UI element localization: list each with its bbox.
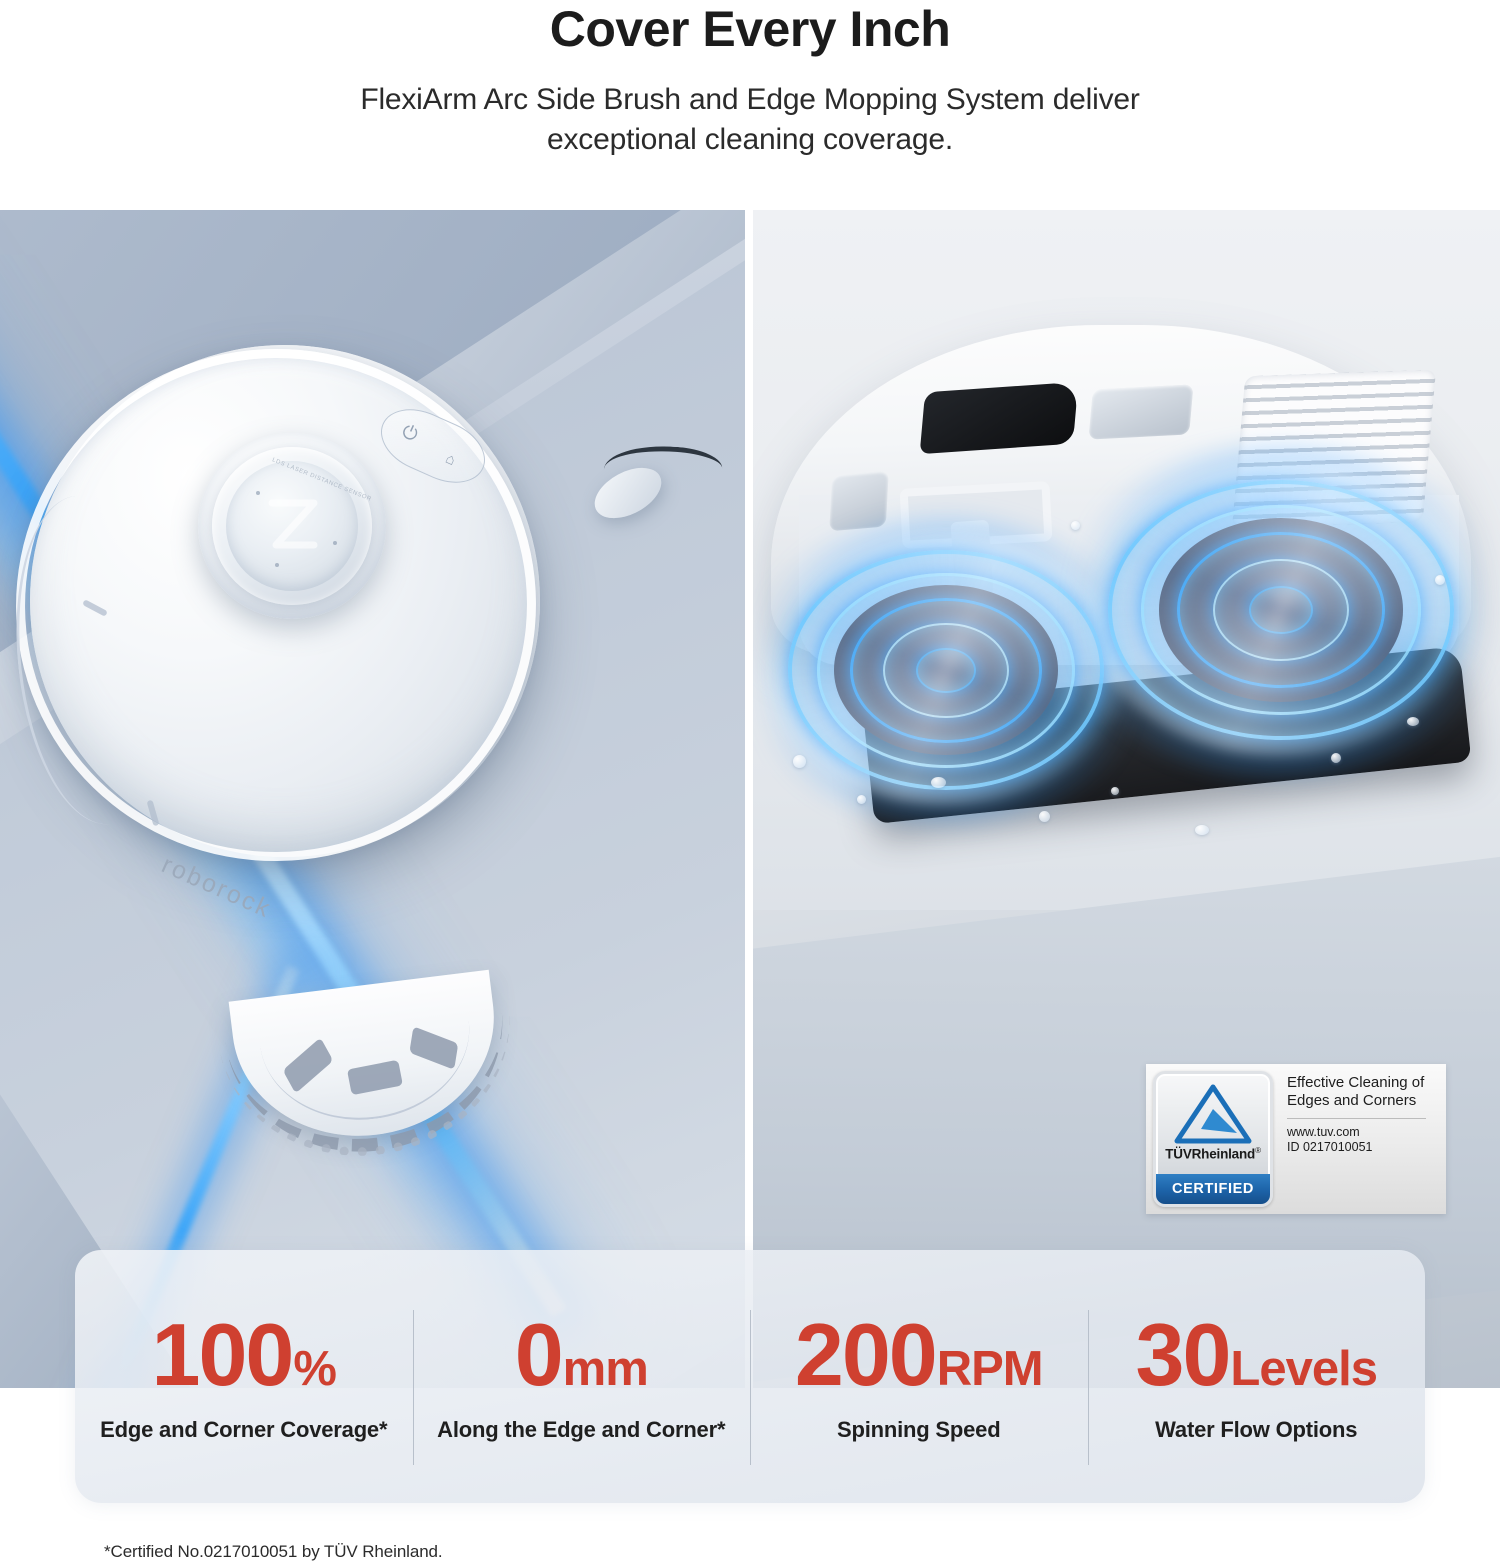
- stat-value: 200 RPM: [795, 1315, 1043, 1396]
- water-droplet: [1435, 575, 1445, 585]
- left-product-photo: LDS LASER DISTANCE SENSOR ⏻ ⌂ roborock: [0, 210, 745, 1388]
- subtitle-line-1: FlexiArm Arc Side Brush and Edge Mopping…: [0, 80, 1500, 120]
- mop-spin-flare: [1087, 464, 1476, 756]
- roborock-r-logo-icon: [262, 495, 324, 553]
- tuv-divider: [1287, 1118, 1426, 1119]
- water-droplet: [1039, 811, 1050, 822]
- tuv-certified-label: CERTIFIED: [1156, 1174, 1270, 1204]
- tuv-website: www.tuv.com: [1287, 1125, 1438, 1140]
- stat-unit: Levels: [1230, 1347, 1377, 1392]
- turret-sensor-dot: [275, 563, 279, 567]
- stat-unit: RPM: [937, 1347, 1043, 1392]
- spec-stats-panel: 100 % Edge and Corner Coverage* 0 mm Alo…: [75, 1250, 1425, 1503]
- tuv-seal: TÜVRheinland® CERTIFIED: [1153, 1071, 1273, 1207]
- stat-number: 30: [1136, 1315, 1230, 1396]
- stat-item-coverage: 100 % Edge and Corner Coverage*: [75, 1250, 413, 1503]
- certification-footnote: *Certified No.0217010051 by TÜV Rheinlan…: [104, 1542, 443, 1562]
- edge-mop-pad-assembly: [221, 969, 520, 1172]
- water-droplet: [857, 795, 866, 804]
- water-droplet: [1331, 753, 1341, 763]
- water-droplet: [931, 777, 946, 788]
- stat-number: 0: [515, 1315, 562, 1396]
- water-droplet: [793, 755, 806, 768]
- tuv-info-block: Effective Cleaning of Edges and Corners …: [1273, 1064, 1446, 1214]
- header-section: Cover Every Inch FlexiArm Arc Side Brush…: [0, 0, 1500, 210]
- page-subtitle: FlexiArm Arc Side Brush and Edge Mopping…: [0, 54, 1500, 160]
- subtitle-line-2: exceptional cleaning coverage.: [0, 120, 1500, 160]
- stat-number: 200: [795, 1315, 936, 1396]
- stat-unit: %: [293, 1347, 336, 1392]
- stat-item-spin-speed: 200 RPM Spinning Speed: [750, 1250, 1088, 1503]
- tuv-id: ID 0217010051: [1287, 1140, 1438, 1155]
- turret-sensor-dot: [256, 491, 260, 495]
- sensor-window: [1089, 384, 1194, 439]
- stat-unit: mm: [563, 1347, 648, 1392]
- water-droplet: [1111, 787, 1119, 795]
- mop-fringe-outer: [214, 968, 525, 1172]
- tuv-organization-name: TÜVRheinland®: [1165, 1146, 1261, 1162]
- stat-value: 0 mm: [515, 1315, 648, 1396]
- water-droplet: [1071, 521, 1080, 530]
- stat-item-gap: 0 mm Along the Edge and Corner*: [413, 1250, 751, 1503]
- turret-sensor-dot: [333, 541, 337, 545]
- stat-label: Along the Edge and Corner*: [437, 1416, 725, 1444]
- stat-number: 100: [152, 1315, 293, 1396]
- stat-label: Water Flow Options: [1155, 1416, 1357, 1444]
- product-image-panels: LDS LASER DISTANCE SENSOR ⏻ ⌂ roborock: [0, 210, 1500, 1388]
- tuv-triangle-icon: [1171, 1083, 1255, 1145]
- stat-label: Edge and Corner Coverage*: [100, 1416, 387, 1444]
- spinning-mop-pad-right: [1101, 475, 1461, 745]
- robot-vacuum-top: LDS LASER DISTANCE SENSOR ⏻ ⌂ roborock: [30, 345, 540, 865]
- stat-label: Spinning Speed: [837, 1416, 1000, 1444]
- water-droplet: [1407, 717, 1419, 726]
- stat-value: 100 %: [152, 1315, 336, 1396]
- tuv-certification-badge: TÜVRheinland® CERTIFIED Effective Cleani…: [1146, 1064, 1446, 1214]
- tuv-claim-text: Effective Cleaning of Edges and Corners: [1287, 1074, 1438, 1110]
- robot-vacuum-underside: [771, 325, 1491, 795]
- registered-mark-icon: ®: [1255, 1146, 1261, 1155]
- cliff-sensor-window: [920, 382, 1079, 454]
- left-scene-background: LDS LASER DISTANCE SENSOR ⏻ ⌂ roborock: [0, 210, 745, 1388]
- stat-item-water-levels: 30 Levels Water Flow Options: [1088, 1250, 1426, 1503]
- page-title: Cover Every Inch: [0, 0, 1500, 54]
- stat-value: 30 Levels: [1136, 1315, 1377, 1396]
- water-droplet: [1195, 825, 1209, 835]
